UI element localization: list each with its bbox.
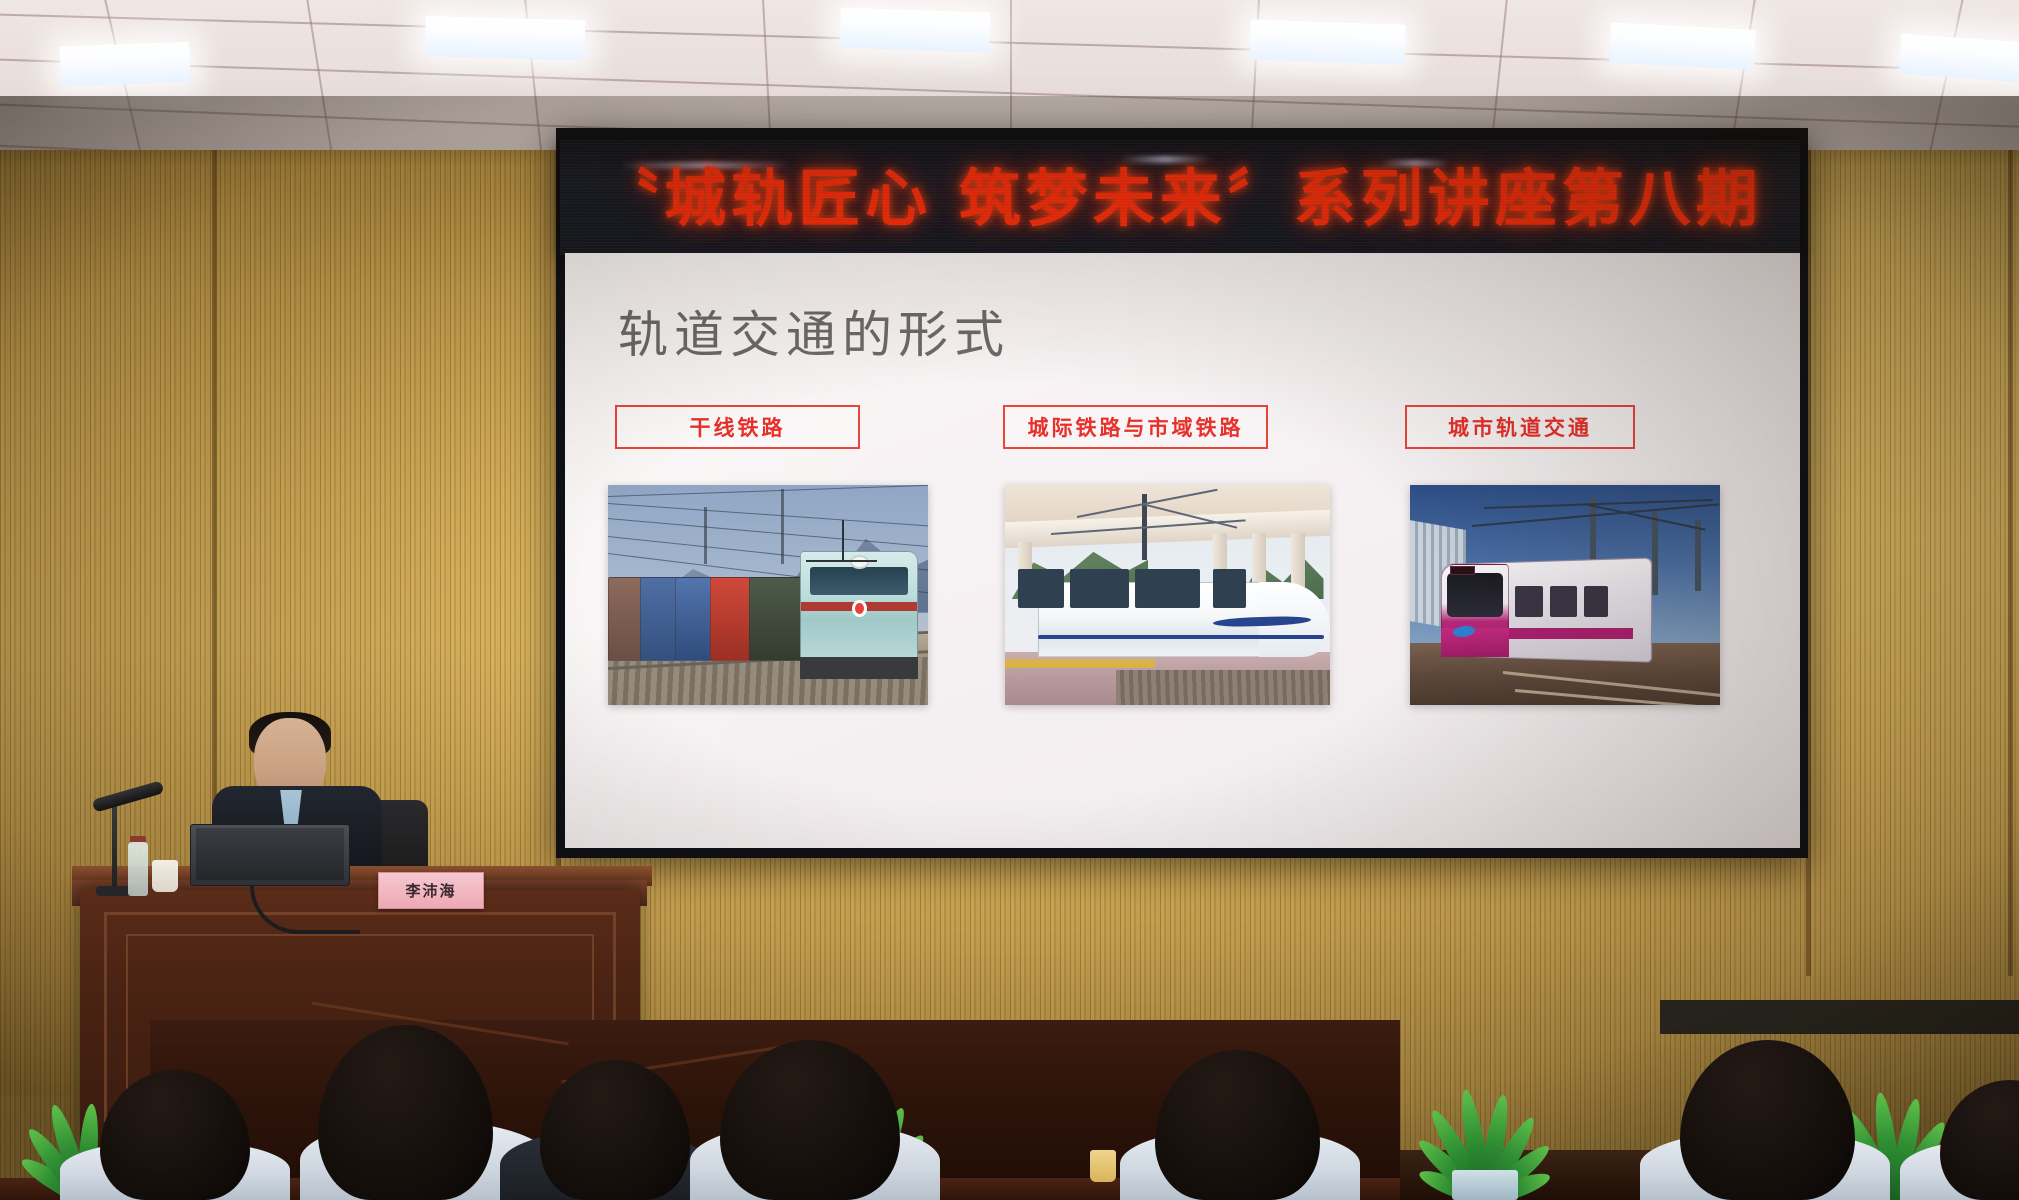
paper-cup-icon <box>152 860 178 892</box>
ceiling-light-panel <box>1609 22 1756 70</box>
paper-cup-icon <box>1090 1150 1116 1182</box>
water-bottle-icon <box>128 842 148 896</box>
speaker-nameplate: 李沛海 <box>378 872 484 909</box>
lecture-hall-scene: 〝城轨匠心 筑梦未来〞系列讲座第八期 轨道交通的形式 干线铁路 城际铁路与市域铁… <box>0 0 2019 1200</box>
ceiling-light-panel <box>1899 34 2019 83</box>
laptop-screen[interactable] <box>196 828 344 880</box>
potted-plant-icon <box>1360 1035 1610 1200</box>
ceiling-light-panel <box>59 42 190 87</box>
microphone-stand <box>112 800 117 892</box>
ceiling-light-panel <box>839 7 990 52</box>
ceiling-light-panel <box>1249 19 1405 64</box>
ceiling-light-panel <box>425 16 586 60</box>
